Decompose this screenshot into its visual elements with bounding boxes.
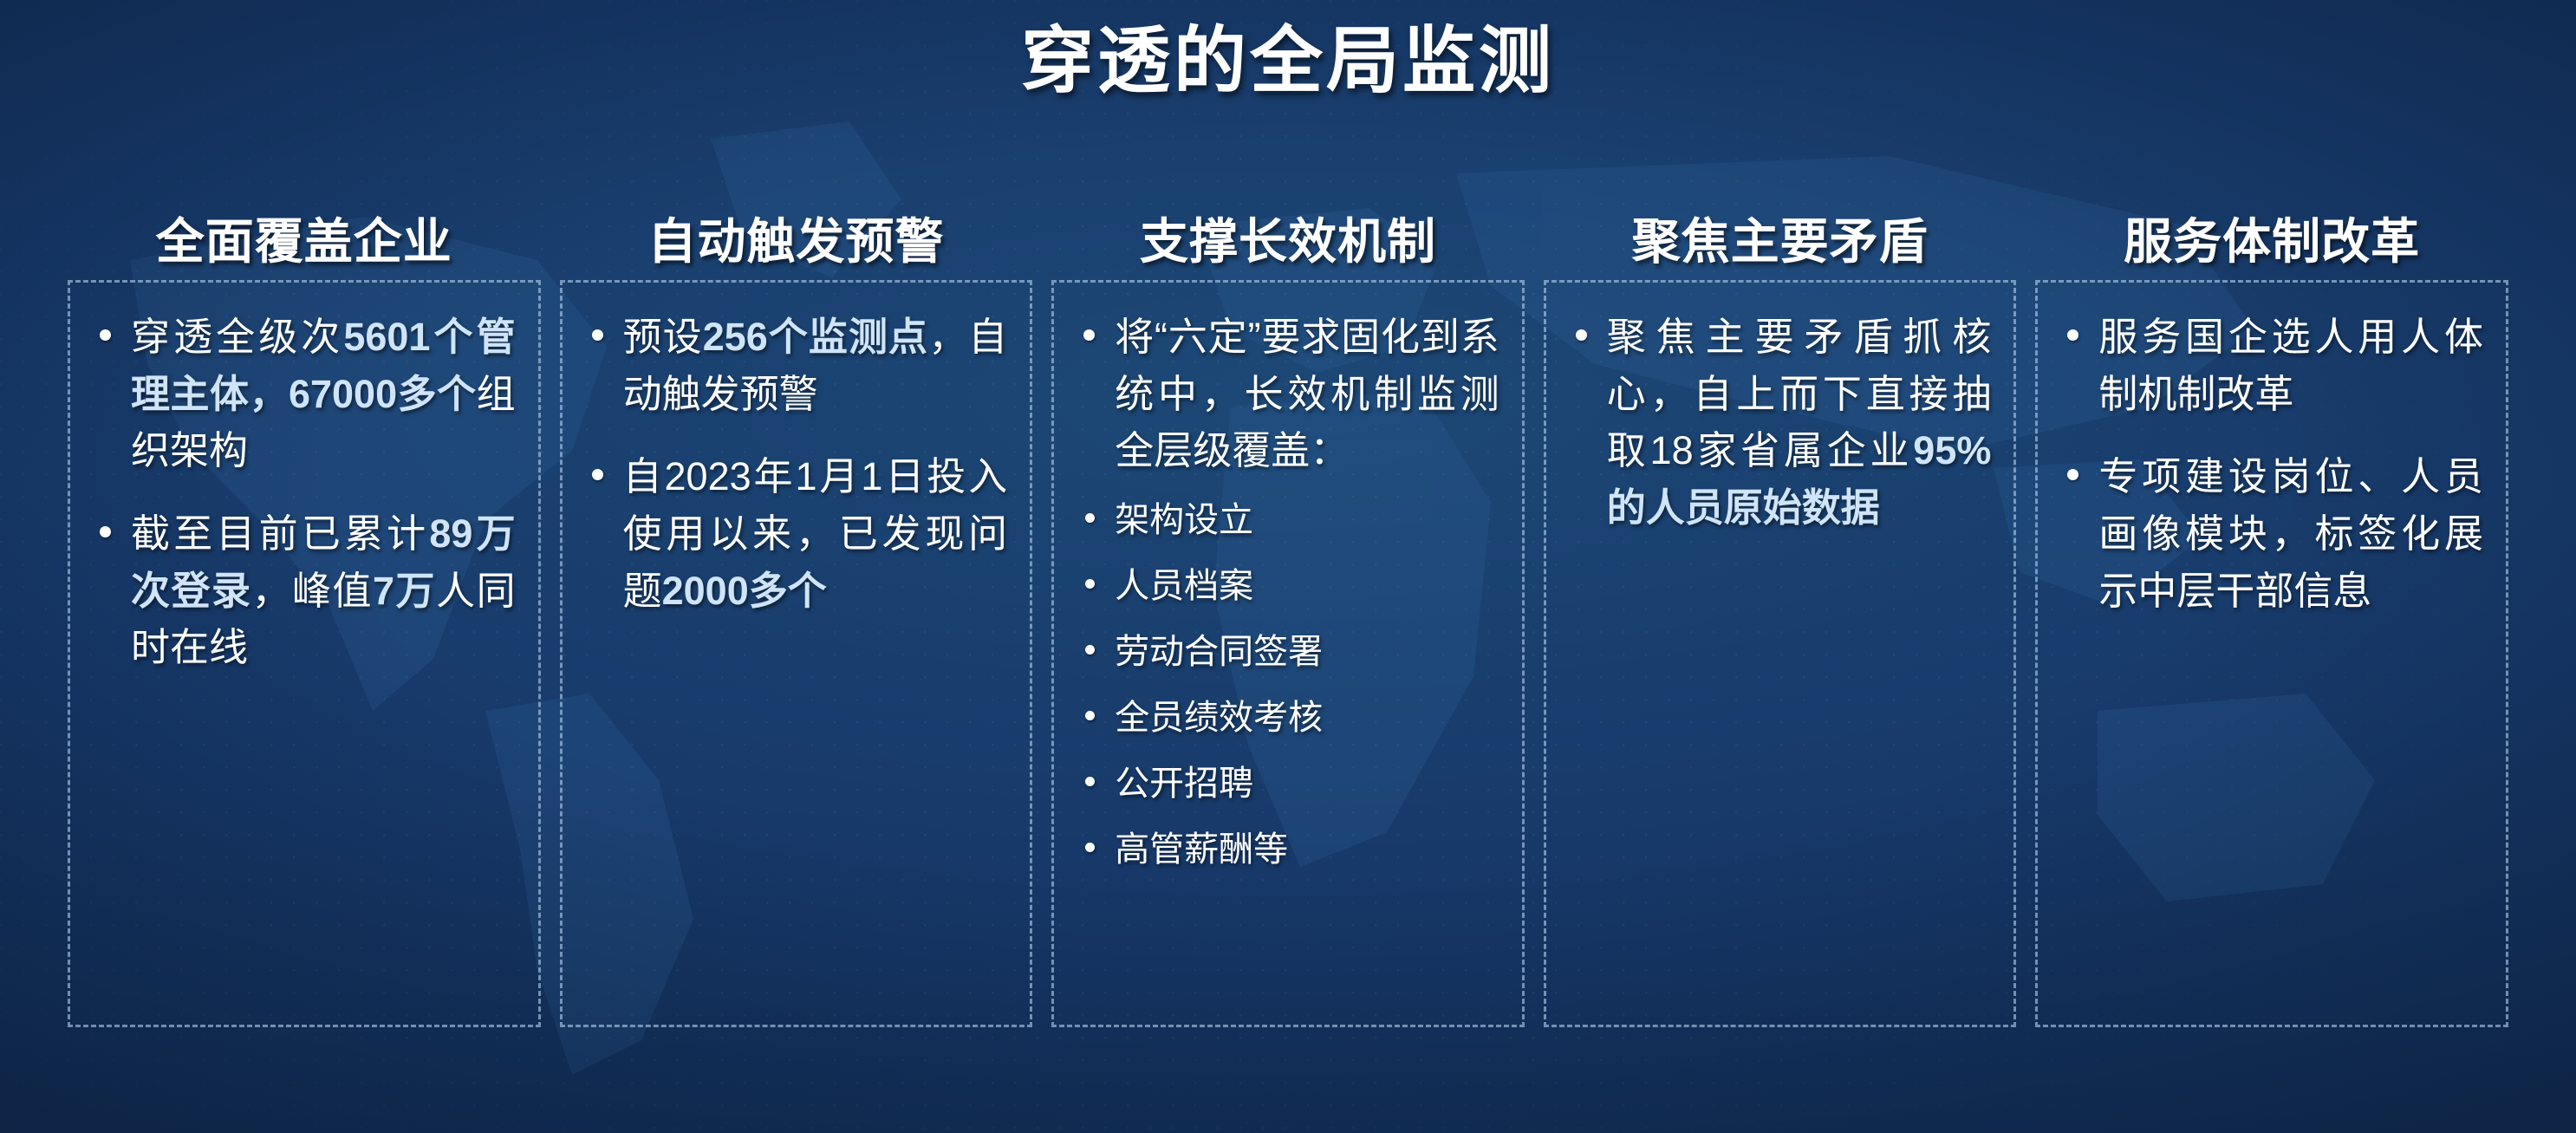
- highlight-segment: 2000多个: [662, 569, 827, 613]
- text-segment: 穿透全级次: [131, 315, 343, 359]
- text-segment: ，峰值: [252, 569, 374, 613]
- list-item: 截至目前已累计89万次登录，峰值7万人同时在线: [88, 505, 516, 676]
- column-header: 全面覆盖企业: [68, 195, 541, 280]
- list-item: 穿透全级次5601个管理主体，67000多个组织架构: [88, 309, 516, 479]
- bullet-list: 服务国企选人用人体制机制改革 专项建设岗位、人员画像模块，标签化展示中层干部信息: [2055, 309, 2483, 619]
- list-item: 专项建设岗位、人员画像模块，标签化展示中层干部信息: [2055, 448, 2483, 619]
- list-item: 聚焦主要矛盾抓核心，自上而下直接抽取18家省属企业95%的人员原始数据: [1564, 309, 1992, 537]
- column-header: 支撑长效机制: [1051, 195, 1525, 280]
- list-item: 架构设立: [1071, 497, 1499, 544]
- column-content-box: 预设256个监测点，自动触发预警 自2023年1月1日投入使用以来，已发现问题2…: [560, 280, 1033, 1027]
- column-content-box: 将“六定”要求固化到系统中，长效机制监测全层级覆盖： 架构设立 人员档案 劳动合…: [1051, 280, 1525, 1027]
- column-key-conflicts: 聚焦主要矛盾 聚焦主要矛盾抓核心，自上而下直接抽取18家省属企业95%的人员原始…: [1544, 195, 2017, 1027]
- text-segment: 截至目前已累计: [131, 511, 429, 556]
- list-item: 服务国企选人用人体制机制改革: [2055, 309, 2483, 422]
- list-item: 全员绩效考核: [1071, 694, 1499, 741]
- column-header: 服务体制改革: [2035, 195, 2508, 280]
- column-auto-alert: 自动触发预警 预设256个监测点，自动触发预警 自2023年1月1日投入使用以来…: [560, 195, 1033, 1027]
- column-long-term-mechanism: 支撑长效机制 将“六定”要求固化到系统中，长效机制监测全层级覆盖： 架构设立 人…: [1051, 195, 1525, 1027]
- sub-item-list: 架构设立 人员档案 劳动合同签署 全员绩效考核 公开招聘 高管薪酬等: [1071, 497, 1499, 873]
- column-header: 自动触发预警: [560, 195, 1033, 280]
- slide-title: 穿透的全局监测: [0, 19, 2576, 103]
- columns-container: 全面覆盖企业 穿透全级次5601个管理主体，67000多个组织架构 截至目前已累…: [68, 195, 2508, 1027]
- list-item: 自2023年1月1日投入使用以来，已发现问题2000多个: [580, 448, 1008, 619]
- column-header: 聚焦主要矛盾: [1544, 195, 2017, 280]
- list-item: 公开招聘: [1071, 760, 1499, 807]
- bullet-list: 聚焦主要矛盾抓核心，自上而下直接抽取18家省属企业95%的人员原始数据: [1564, 309, 1992, 537]
- list-item: 高管薪酬等: [1071, 826, 1499, 873]
- bullet-list: 预设256个监测点，自动触发预警 自2023年1月1日投入使用以来，已发现问题2…: [580, 309, 1008, 619]
- list-item: 劳动合同签署: [1071, 628, 1499, 675]
- intro-paragraph: 将“六定”要求固化到系统中，长效机制监测全层级覆盖：: [1071, 309, 1499, 479]
- column-content-box: 聚焦主要矛盾抓核心，自上而下直接抽取18家省属企业95%的人员原始数据: [1544, 280, 2017, 1027]
- highlight-segment: 7万: [373, 569, 436, 613]
- bullet-list: 穿透全级次5601个管理主体，67000多个组织架构 截至目前已累计89万次登录…: [88, 309, 516, 676]
- slide-canvas: 穿透的全局监测 全面覆盖企业 穿透全级次5601个管理主体，67000多个组织架…: [0, 0, 2576, 1133]
- column-content-box: 服务国企选人用人体制机制改革 专项建设岗位、人员画像模块，标签化展示中层干部信息: [2035, 280, 2508, 1027]
- list-item: 预设256个监测点，自动触发预警: [580, 309, 1008, 422]
- list-item: 人员档案: [1071, 563, 1499, 609]
- column-full-coverage: 全面覆盖企业 穿透全级次5601个管理主体，67000多个组织架构 截至目前已累…: [68, 195, 541, 1027]
- highlight-segment: 256个监测点: [703, 315, 928, 359]
- text-segment: 预设: [623, 315, 703, 359]
- column-content-box: 穿透全级次5601个管理主体，67000多个组织架构 截至目前已累计89万次登录…: [68, 280, 541, 1027]
- column-system-reform: 服务体制改革 服务国企选人用人体制机制改革 专项建设岗位、人员画像模块，标签化展…: [2035, 195, 2508, 1027]
